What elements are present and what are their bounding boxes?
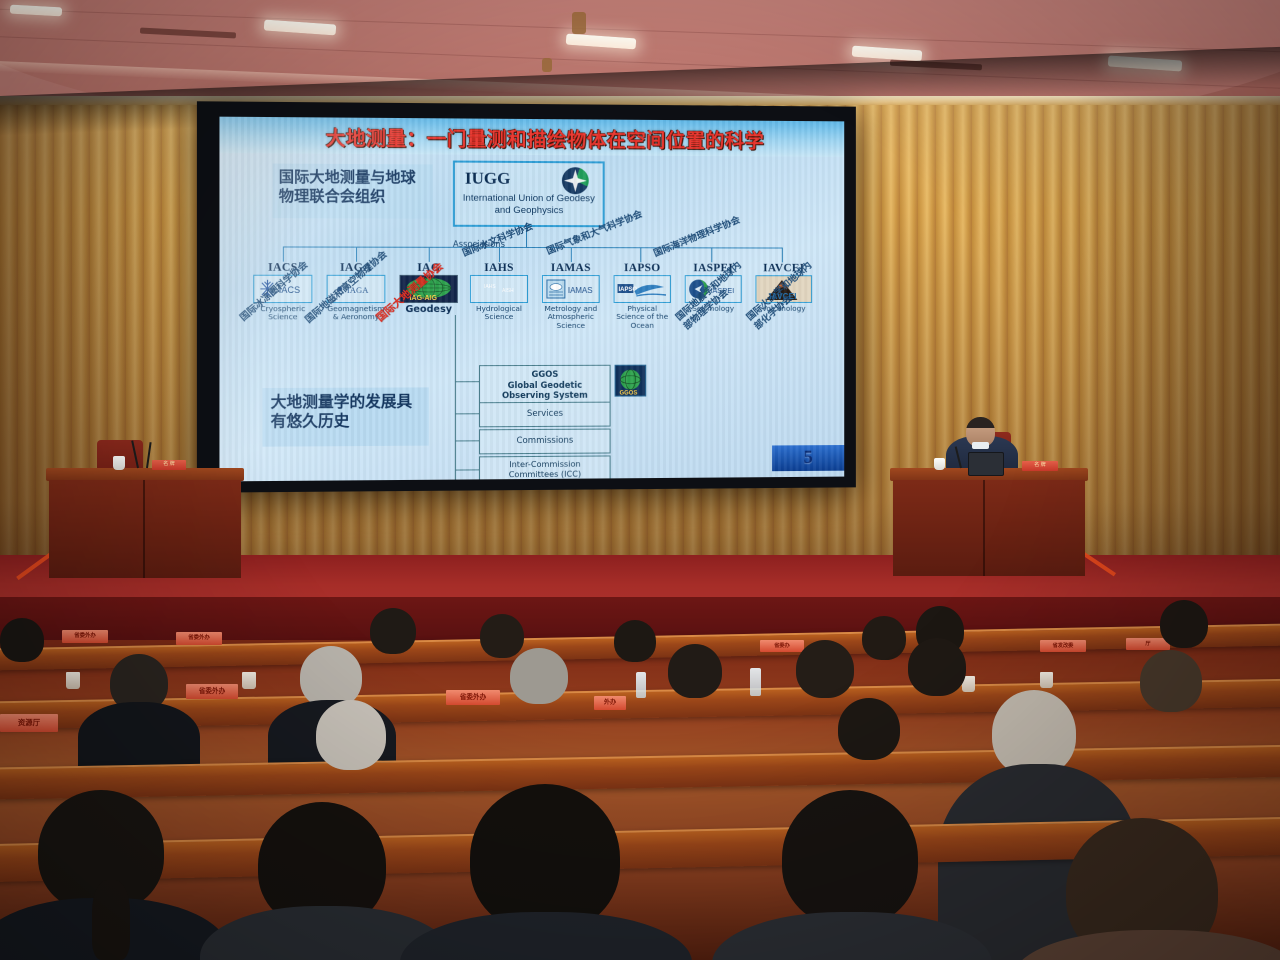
paper-cup: [934, 458, 945, 470]
stage-name-card: 名 牌: [152, 460, 186, 470]
audience-head: [796, 640, 854, 698]
audience-head: [838, 698, 900, 760]
presenter-laptop[interactable]: [968, 452, 1004, 476]
audience-name-card: 省委外办: [176, 632, 222, 645]
ggos-globe-icon: GGOS: [615, 365, 647, 397]
desk-seam: [983, 480, 985, 576]
audience-head: [480, 614, 524, 658]
slide-org-textbox: 国际大地测量与地球物理联合会组织: [273, 164, 433, 219]
audience-head: [1140, 650, 1202, 712]
audience-head-foreground: [782, 790, 918, 926]
association-code: IAHS: [469, 261, 529, 274]
association-caption: Geodesy: [398, 305, 458, 316]
connector-line: [283, 246, 284, 261]
association-code: IAMAS: [541, 261, 601, 274]
presentation-slide: 大地测量：一门量测和描绘物体在空间位置的科学 国际大地测量与地球物理联合会组织 …: [219, 117, 844, 482]
desk-seam: [143, 480, 145, 578]
svg-text:IAMAS: IAMAS: [568, 286, 593, 295]
association-iapso: IAPSO IAPSO Physical Science of the Ocea…: [613, 261, 672, 330]
association-iahs: IAHS IAHS AISH Hydrological Science: [469, 261, 529, 322]
connector-line: [571, 247, 572, 262]
connector-line: [782, 248, 783, 263]
audience-name-card: 省委外办: [446, 690, 500, 705]
iamas-square-icon: IAMAS: [542, 275, 600, 303]
assoc-chinese-label: 国际海洋物理科学协会: [652, 215, 742, 260]
ggos-box: GGOS Global Geodetic Observing System: [479, 365, 611, 403]
connector-line: [499, 247, 500, 262]
audience-name-card: 资源厅: [0, 714, 58, 732]
paper-cup: [242, 672, 256, 689]
ggos-line1: GGOS: [480, 369, 610, 380]
audience-ponytail: [92, 880, 130, 960]
svg-text:AISH: AISH: [502, 288, 514, 294]
connector-line: [711, 247, 712, 262]
audience-head: [316, 700, 386, 770]
stage-left-desk: [46, 468, 244, 578]
podium-desk: [890, 468, 1088, 576]
audience-head: [614, 620, 656, 662]
association-iamas: IAMAS IAMAS Metrology and Atmospheric Sc…: [541, 261, 601, 330]
audience-name-card: 外办: [594, 696, 626, 710]
commissions-box: Commissions: [479, 429, 611, 455]
audience-name-card: 省委办: [760, 640, 804, 652]
association-caption: Hydrological Science: [469, 305, 529, 322]
connector-line: [640, 247, 641, 262]
audience-name-card: 省委外办: [186, 684, 238, 699]
connector-line: [455, 440, 479, 442]
slide-title: 大地测量：一门量测和描绘物体在空间位置的科学: [254, 121, 832, 154]
iahs-red-crescent-icon: IAHS AISH: [470, 275, 528, 303]
connector-line: [429, 247, 430, 262]
projection-screen: 大地测量：一门量测和描绘物体在空间位置的科学 国际大地测量与地球物理联合会组织 …: [197, 101, 856, 492]
ceiling-speaker: [542, 58, 552, 72]
slide-history-textbox: 大地测量学的发展具有悠久历史: [262, 387, 428, 446]
audience-name-card: 省委外办: [62, 630, 108, 643]
audience-head: [300, 646, 362, 708]
paper-cup: [66, 672, 80, 689]
auditorium-photo: 大地测量：一门量测和描绘物体在空间位置的科学 国际大地测量与地球物理联合会组织 …: [0, 0, 1280, 960]
paper-cup: [1040, 672, 1053, 688]
desk-front: [49, 480, 241, 578]
connector-line: [455, 413, 479, 415]
slide-page-number: 5: [772, 445, 844, 471]
icc-box: Inter-Commission Committees (ICC): [479, 455, 611, 481]
presenter-collar: [972, 442, 989, 449]
audience-head-foreground: [470, 784, 620, 932]
audience-name-card: 省发改委: [1040, 640, 1086, 652]
audience-head: [370, 608, 416, 654]
paper-cup: [113, 456, 125, 470]
audience-head: [862, 616, 906, 660]
connector-line: [455, 469, 479, 471]
desk-front: [893, 480, 1085, 576]
svg-text:GGOS: GGOS: [620, 391, 638, 396]
svg-text:IAHS: IAHS: [484, 284, 496, 290]
audience-head: [908, 638, 966, 696]
association-caption: Metrology and Atmospheric Science: [541, 305, 601, 330]
audience-name-card: 厅: [1126, 638, 1170, 650]
connector-bus: [283, 246, 782, 248]
connector-line: [455, 381, 479, 382]
water-bottle: [750, 668, 761, 696]
svg-text:IAPSO: IAPSO: [619, 287, 638, 293]
association-caption: Physical Science of the Ocean: [613, 305, 672, 330]
ceiling-speaker: [572, 12, 586, 34]
audience-head: [1160, 600, 1208, 648]
water-bottle: [636, 672, 646, 698]
association-code: IAPSO: [613, 261, 672, 274]
ggos-line2: Global Geodetic: [480, 379, 610, 390]
icc-line2: Committees (ICC): [480, 469, 610, 480]
iag-subtree-spine: [455, 315, 456, 481]
iugg-star-icon: [562, 167, 589, 194]
ggos-line3: Observing System: [480, 390, 610, 401]
audience-head: [510, 648, 568, 704]
iugg-box: IUGG International Union of Geodesy and …: [453, 161, 605, 228]
iugg-acronym: IUGG: [465, 169, 510, 189]
audience-head: [0, 618, 44, 662]
audience-head: [668, 644, 722, 698]
services-box: Services: [479, 402, 611, 428]
iapso-wave-icon: IAPSO: [614, 275, 671, 303]
iugg-full-name: International Union of Geodesy and Geoph…: [455, 193, 603, 217]
connector-line: [356, 247, 357, 262]
podium-name-card: 名 牌: [1022, 461, 1058, 471]
